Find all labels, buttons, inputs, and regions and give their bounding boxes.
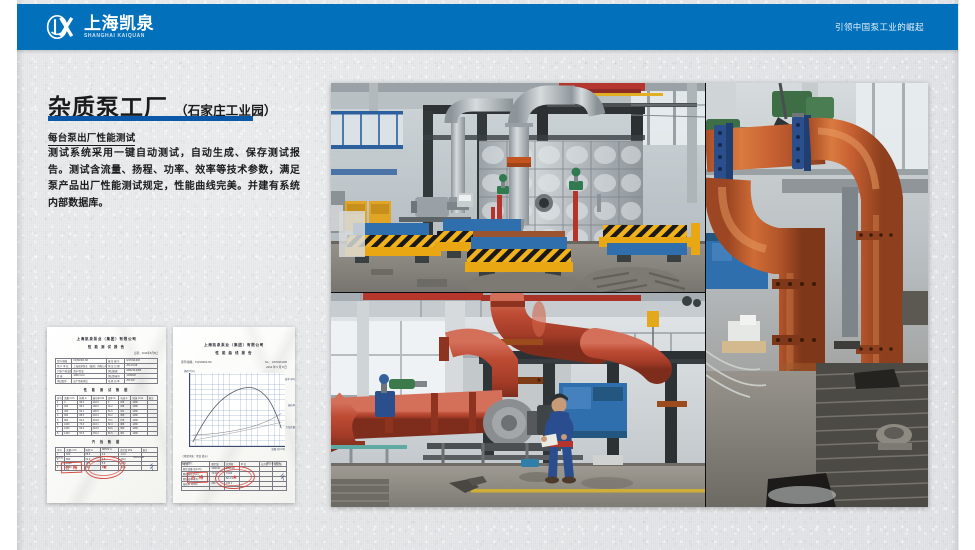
header-bar: 上海凯泉 SHANGHAI KAIQUAN 引领中国泵工业的崛起	[17, 4, 958, 50]
chart-right-label-eff: 效率 η(%)	[285, 377, 295, 381]
doc-a-band-1: 性 能 测 试 数 据	[55, 387, 158, 392]
brand-logo-text: 上海凯泉 SHANGHAI KAIQUAN	[84, 15, 154, 39]
doc-b-meta-date: 2014 年 5 月 8 日	[266, 365, 287, 369]
doc-b-performance-chart: 扬程 H(m) 流量 Q(m³/h) 效率 η(%) 轴功率 汽蚀余量	[189, 373, 285, 447]
kaiquan-circle-k-logo-icon	[45, 13, 79, 41]
document-performance-test-report[interactable]: 上海凯泉泵业（集团）有限公司 性 能 测 试 报 告 日期：2014年5月8日 …	[47, 327, 166, 503]
stamp-star-icon: ★	[232, 474, 238, 480]
cell: 8	[56, 431, 63, 435]
title-underline-rule	[48, 116, 253, 121]
cell: 381	[119, 431, 131, 435]
photo-artwork	[331, 293, 705, 507]
chart-x-axis-label: 流量 Q(m³/h)	[271, 447, 285, 451]
doc-a-performance-table: 序号 流量 m³/h 扬程 m 轴功率 kW 效率 % 电流 A 转速 r/mi…	[55, 395, 158, 436]
photo-artwork	[706, 83, 928, 507]
doc-b-note-left: （测试环境：常温 清水）	[181, 454, 287, 458]
photo-factory-test-bay-tanks[interactable]	[331, 83, 705, 292]
cell: 81.5	[106, 431, 118, 435]
photo-pump-test-rig-worker[interactable]	[331, 293, 705, 507]
brand-name-en: SHANGHAI KAIQUAN	[84, 34, 154, 39]
doc-b-qualified-stamp: 合 格	[187, 472, 209, 484]
header-shadow	[17, 50, 958, 54]
doc-a-signature: 彳	[147, 461, 156, 473]
column-header: 序号	[56, 395, 63, 400]
cell: 1400	[63, 431, 78, 435]
cell: 介质/介质温度	[56, 368, 72, 373]
cell	[259, 486, 273, 490]
cell: 1480	[131, 431, 147, 435]
cell: 上海凯泉泵业（集团）有限公司	[72, 363, 107, 368]
doc-a-company-line: 上海凯泉泵业（集团）有限公司	[55, 336, 158, 343]
chart-right-label-power: 轴功率	[288, 403, 295, 407]
doc-a-report-title: 性 能 测 试 报 告	[55, 344, 158, 349]
cell: 236.2	[91, 431, 106, 435]
table-row: 8 1400 50.5 236.2 81.5 381 1480	[56, 431, 158, 435]
doc-a-band-2: 汽 蚀 数 据	[55, 439, 158, 444]
cell: 测试类型	[56, 378, 72, 383]
stamp-star-icon: ★	[102, 464, 108, 470]
doc-a-footer-note: 检验员：	[56, 455, 66, 459]
doc-b-company-line: 上海凯泉泵业（集团）有限公司	[181, 342, 287, 349]
doc-b-meta-no: No.：GS7016-006	[265, 360, 287, 364]
section-body-text: 测试系统采用一键自动测试，自动生成、保存测试报告。测试含流量、扬程、功率、效率等…	[48, 146, 300, 212]
header-slogan: 引领中国泵工业的崛起	[835, 21, 924, 33]
document-performance-curve-report[interactable]: 上海凯泉泵业（集团）有限公司 性 能 曲 线 报 告 型号/规格：KQSN300…	[173, 327, 295, 503]
brand-name-cn: 上海凯泉	[84, 15, 154, 32]
chart-right-label-npsh: 汽蚀余量	[286, 425, 295, 429]
photo-orange-pipe-bends[interactable]	[706, 83, 928, 507]
section-subheading: 每台泵出厂性能测试	[48, 130, 135, 146]
chart-curves	[190, 373, 285, 446]
cell: 250 kW	[125, 378, 158, 383]
photo-artwork	[331, 83, 705, 292]
cell	[182, 486, 210, 490]
doc-a-meta-date: 日期：2014年5月8日	[134, 351, 158, 355]
cell: 电 机 功 率	[106, 378, 124, 383]
doc-b-note-right: 测试人员签字：	[266, 461, 283, 465]
photo-collage	[331, 83, 928, 507]
doc-a-qualified-stamp: 合 格	[61, 462, 83, 474]
cell	[273, 486, 287, 490]
slide-right-shadow	[951, 0, 959, 550]
slide-root: 上海凯泉 SHANGHAI KAIQUAN 引领中国泵工业的崛起 杂质泵工厂 （…	[0, 0, 975, 550]
doc-b-meta-left: 型号/规格：KQSN300-N6	[181, 360, 212, 369]
cell	[147, 431, 157, 435]
slide-left-shadow	[17, 0, 24, 550]
doc-a-date-note: 2014.5.08	[133, 456, 144, 459]
cell: 50.5	[78, 431, 91, 435]
doc-b-report-title: 性 能 曲 线 报 告	[181, 350, 287, 355]
doc-a-info-table: 型号/规格 KQSN300-N6 报 告 编 号 GS7016-006 用 户 …	[55, 358, 158, 384]
doc-b-signature: 彳	[278, 471, 287, 483]
doc-a-meta: 日期：2014年5月8日	[55, 351, 158, 355]
brand-logo[interactable]: 上海凯泉 SHANGHAI KAIQUAN	[45, 13, 154, 41]
table-row: 测试类型 出厂性能测试 电 机 功 率 250 kW	[56, 378, 158, 383]
cell: 出厂性能测试	[72, 378, 107, 383]
doc-b-sign-note: 曲线绘制：	[182, 461, 194, 465]
